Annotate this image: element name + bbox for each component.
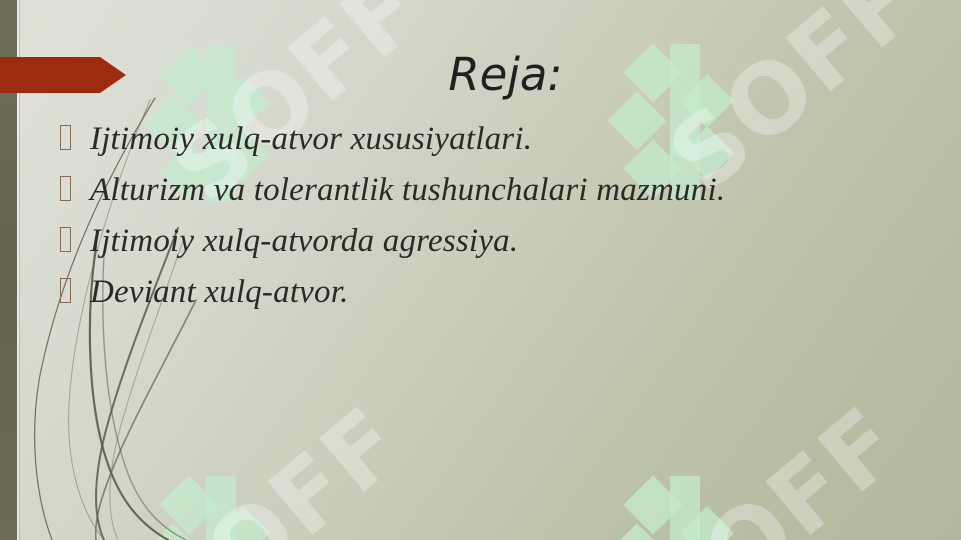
list-item-label: Alturizm va tolerantlik tushunchalari ma…: [90, 165, 900, 215]
k-logo-icon: [150, 470, 280, 540]
missing-glyph-box-icon: [60, 125, 71, 150]
missing-glyph-box-icon: [60, 278, 71, 303]
list-item-label: Deviant xulq-atvor.: [90, 267, 900, 317]
list-item: Ijtimoiy xulq-atvor xususiyatlari.: [60, 114, 900, 164]
list-item: Alturizm va tolerantlik tushunchalari ma…: [60, 165, 900, 215]
list-item-label: Ijtimoiy xulq-atvorda agressiya.: [90, 216, 900, 266]
page-title: Reja:: [0, 52, 961, 97]
slide-canvas: SOFF SOFF SOFF SOFF Reja: Ijtimoiy xulq-…: [0, 0, 961, 540]
soff-watermark: SOFF: [130, 386, 424, 540]
list-item-label: Ijtimoiy xulq-atvor xususiyatlari.: [90, 114, 900, 164]
missing-glyph-box-icon: [60, 227, 71, 252]
list-item: Ijtimoiy xulq-atvorda agressiya.: [60, 216, 900, 266]
bullet-list: Ijtimoiy xulq-atvor xususiyatlari. Altur…: [60, 114, 900, 318]
missing-glyph-box-icon: [60, 176, 71, 201]
soff-watermark: SOFF: [628, 386, 922, 540]
k-logo-icon: [614, 470, 744, 540]
list-item: Deviant xulq-atvor.: [60, 267, 900, 317]
